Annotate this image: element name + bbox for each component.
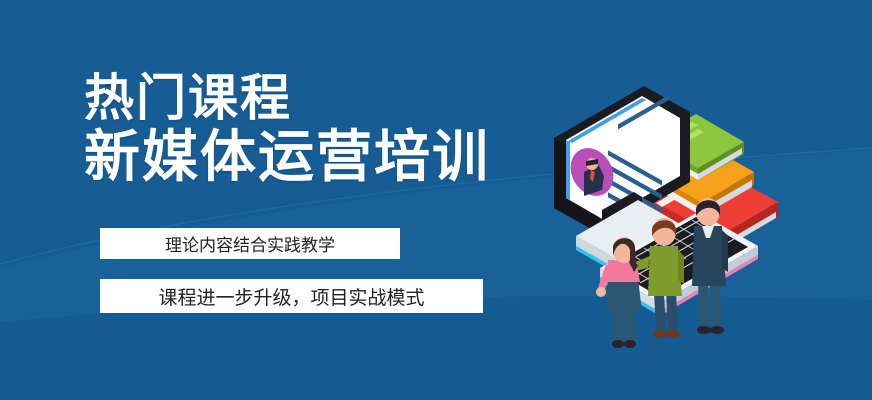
headline-block: 热门课程 新媒体运营培训 [84, 72, 524, 187]
headline-line-1: 热门课程 [84, 72, 524, 125]
illustration [546, 60, 866, 350]
isometric-online-learning-icon [546, 60, 866, 350]
tagline-text-2: 课程进一步升级，项目实战模式 [158, 283, 424, 310]
tagline-box-2: 课程进一步升级，项目实战模式 [100, 279, 483, 313]
headline-line-2: 新媒体运营培训 [84, 127, 524, 187]
course-promo-banner: 热门课程 新媒体运营培训 理论内容结合实践教学 课程进一步升级，项目实战模式 [0, 0, 872, 400]
tagline-text-1: 理论内容结合实践教学 [165, 231, 335, 256]
tagline-box-1: 理论内容结合实践教学 [100, 228, 400, 259]
